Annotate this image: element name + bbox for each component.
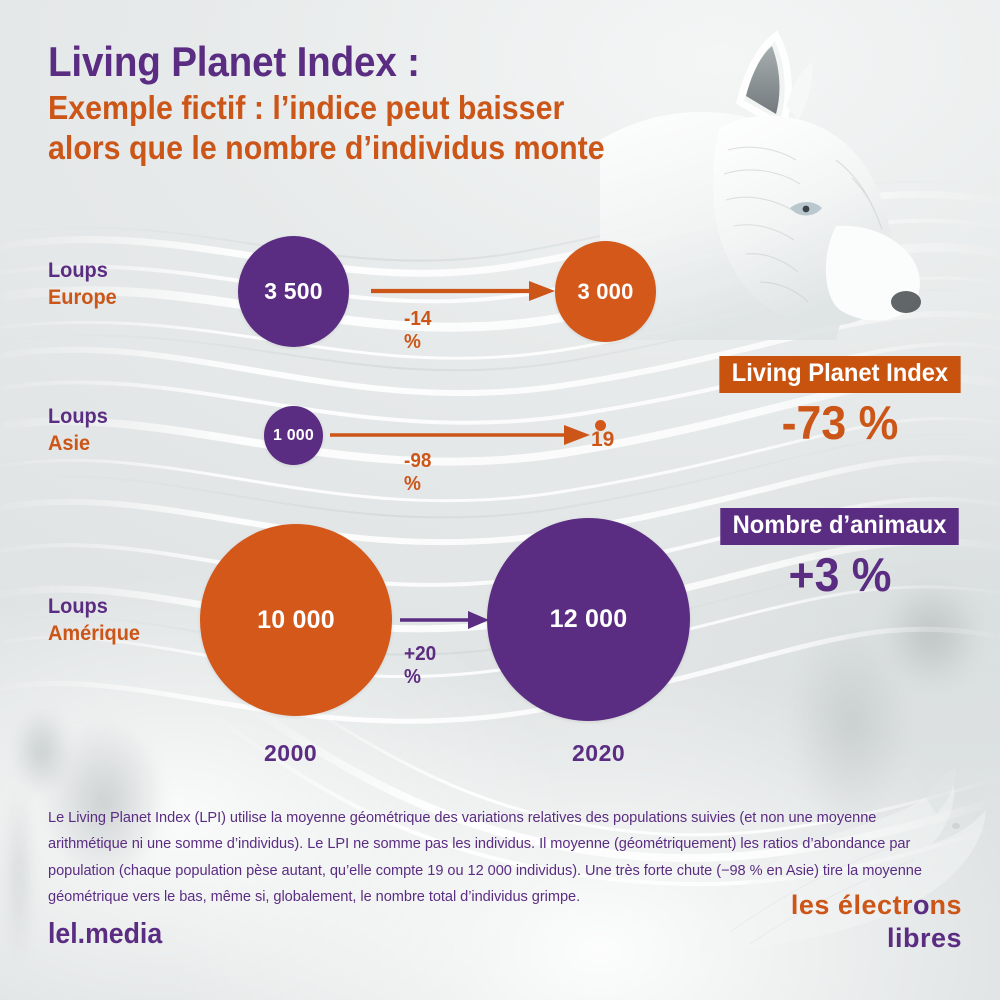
kpi-badge-lpi: Living Planet Index [719,356,960,393]
delta-asie: -98 % [404,450,431,496]
bubble-value-amerique-2000: 10 000 [257,606,335,635]
delta-europe: -14 % [404,308,431,354]
content-layer: Living Planet Index : Exemple fictif : l… [0,0,1000,1000]
brand-logo-les: les [791,890,838,920]
page-title: Living Planet Index : [48,40,618,84]
row-label-region-amerique: Amérique [48,621,140,648]
arrow-asie [330,423,592,447]
row-label-region-europe: Europe [48,285,117,312]
page-subtitle-line2: alors que le nombre d’individus monte [48,128,618,168]
brand-logo-electr: électr [838,890,913,920]
kpi-value-animals: +3 % [707,551,973,598]
row-label-species-amerique: Loups [48,594,140,621]
brand-logo[interactable]: les électrons libres [791,892,962,952]
kpi-badge-animals: Nombre d’animaux [721,508,960,545]
bubble-value-europe-2000: 3 500 [264,278,323,305]
title-block: Living Planet Index : Exemple fictif : l… [48,40,668,168]
arrow-europe [371,278,557,304]
axis-label-year-start: 2000 [264,740,317,767]
bubble-value-amerique-2020: 12 000 [550,605,628,634]
infographic-poster: Living Planet Index : Exemple fictif : l… [0,0,1000,1000]
arrow-amerique [400,608,490,632]
brand-logo-ns: ns [929,890,962,920]
bubble-value-asie-2000: 1 000 [273,427,314,445]
kpi-nombre-animaux: Nombre d’animaux +3 % [700,508,980,598]
kpi-value-lpi: -73 % [707,399,973,446]
brand-logo-line1: les électrons [791,892,962,919]
site-name[interactable]: lel.media [48,918,162,951]
brand-logo-line2: libres [791,925,962,952]
row-label-region-asie: Asie [48,431,108,458]
row-label-species-asie: Loups [48,404,108,431]
bubble-value-asie-2020: 19 [591,428,614,452]
bubble-value-europe-2020: 3 000 [577,279,633,305]
bubble-asie-2000[interactable]: 1 000 [264,406,323,465]
page-subtitle-line1: Exemple fictif : l’indice peut baisser [48,88,618,128]
brand-logo-o: o [913,890,930,920]
delta-amerique: +20 % [404,643,436,689]
axis-label-year-end: 2020 [572,740,625,767]
bubble-amerique-2000[interactable]: 10 000 [200,524,392,716]
row-label-species-europe: Loups [48,258,117,285]
bubble-europe-2020[interactable]: 3 000 [555,241,656,342]
kpi-living-planet-index: Living Planet Index -73 % [700,356,980,446]
bubble-amerique-2020[interactable]: 12 000 [487,518,690,721]
bubble-europe-2000[interactable]: 3 500 [238,236,349,347]
